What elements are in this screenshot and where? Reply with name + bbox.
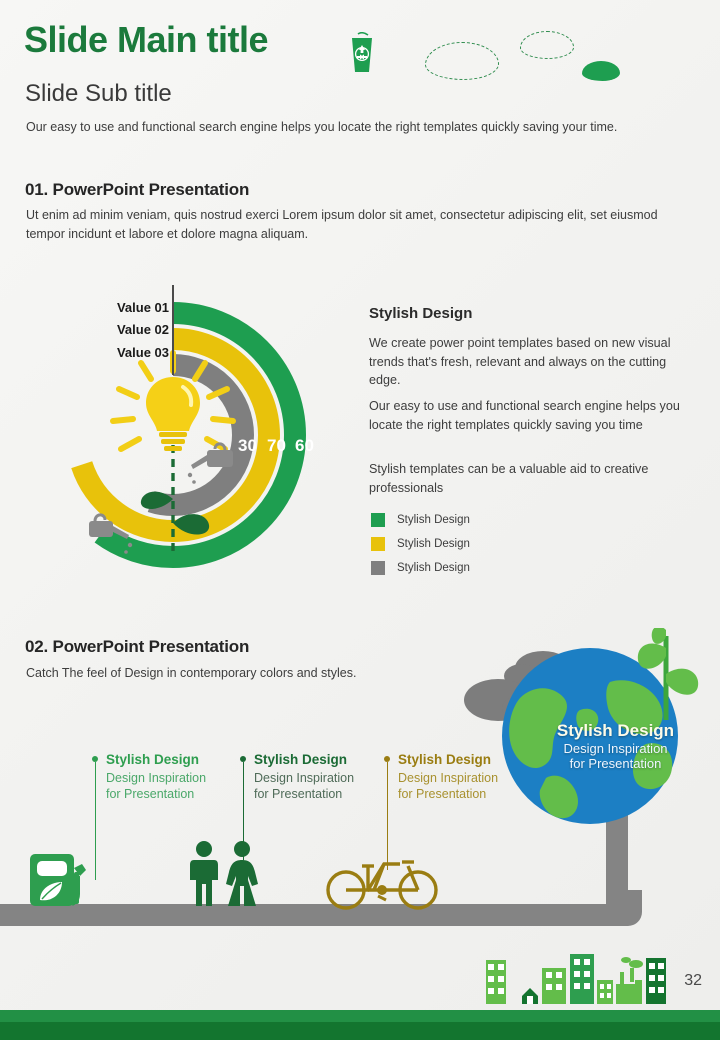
callout-title: Stylish Design — [106, 752, 199, 767]
chart-value-label-02: 70 — [267, 437, 286, 454]
legend-item: Stylish Design — [371, 508, 470, 532]
callout-subtitle-line-2: for Presentation — [106, 787, 194, 801]
callout-subtitle-line-2: for Presentation — [254, 787, 342, 801]
callout-subtitle: Design Inspiration for Presentation — [398, 771, 498, 803]
footer-bar-light — [0, 1010, 720, 1022]
header-description: Our easy to use and functional search en… — [26, 119, 617, 135]
radial-bar-chart: Value 01 Value 02 Value 03 30 70 60 — [55, 285, 355, 585]
page-number: 32 — [684, 972, 702, 990]
globe-illustration — [460, 628, 710, 838]
chart-category-label: Value 03 — [95, 342, 169, 364]
callout-subtitle-line-1: Design Inspiration — [254, 771, 354, 785]
callout-subtitle-line-1: Design Inspiration — [398, 771, 498, 785]
slide-canvas: Slide Main title Slide Sub title Our eas… — [0, 0, 720, 1040]
footer-bar-dark — [0, 1022, 720, 1040]
recycle-bin-icon — [348, 32, 376, 74]
legend-label: Stylish Design — [397, 562, 470, 574]
solid-cloud-icon — [582, 61, 620, 81]
legend-item: Stylish Design — [371, 532, 470, 556]
chart-legend: Stylish Design Stylish Design Stylish De… — [371, 508, 470, 580]
chart-value-label-03: 30 — [238, 437, 257, 454]
sprout-leaf-icon — [666, 669, 698, 695]
sprout-leaf-icon — [638, 644, 666, 669]
section-1-title: 01. PowerPoint Presentation — [25, 180, 249, 200]
chart-value-label-01: 60 — [295, 437, 314, 454]
right-panel-paragraph-1: We create power point templates based on… — [369, 334, 687, 390]
bicycle-icon — [322, 852, 442, 910]
callout-subtitle-line-1: Design Inspiration — [106, 771, 206, 785]
callout-title: Stylish Design — [398, 752, 491, 767]
callout-title: Stylish Design — [254, 752, 347, 767]
right-panel-title: Stylish Design — [369, 305, 472, 322]
legend-swatch-yellow — [371, 537, 385, 551]
legend-label: Stylish Design — [397, 514, 470, 526]
page-subtitle: Slide Sub title — [25, 82, 172, 106]
dashed-cloud-icon — [520, 31, 574, 59]
right-panel-paragraph-3: Stylish templates can be a valuable aid … — [369, 460, 687, 497]
legend-swatch-green — [371, 513, 385, 527]
chart-category-label: Value 01 — [95, 297, 169, 319]
people-pair-icon — [182, 840, 266, 908]
gas-pump-leaf-icon — [28, 852, 106, 908]
chart-category-label: Value 02 — [95, 319, 169, 341]
legend-item: Stylish Design — [371, 556, 470, 580]
dashed-cloud-icon — [425, 42, 499, 80]
right-panel-paragraph-2: Our easy to use and functional search en… — [369, 397, 687, 434]
city-skyline-icon — [480, 950, 670, 1004]
section-1-body: Ut enim ad minim veniam, quis nostrud ex… — [26, 206, 666, 245]
callout-subtitle-line-2: for Presentation — [398, 787, 486, 801]
callout-subtitle: Design Inspiration for Presentation — [106, 771, 206, 803]
page-title: Slide Main title — [24, 22, 268, 58]
legend-swatch-gray — [371, 561, 385, 575]
chart-axis-line — [172, 285, 174, 375]
callout-subtitle: Design Inspiration for Presentation — [254, 771, 354, 803]
section-2-title: 02. PowerPoint Presentation — [25, 637, 249, 657]
factory-icon — [616, 980, 642, 1004]
legend-label: Stylish Design — [397, 538, 470, 550]
chart-category-labels: Value 01 Value 02 Value 03 — [95, 297, 169, 364]
